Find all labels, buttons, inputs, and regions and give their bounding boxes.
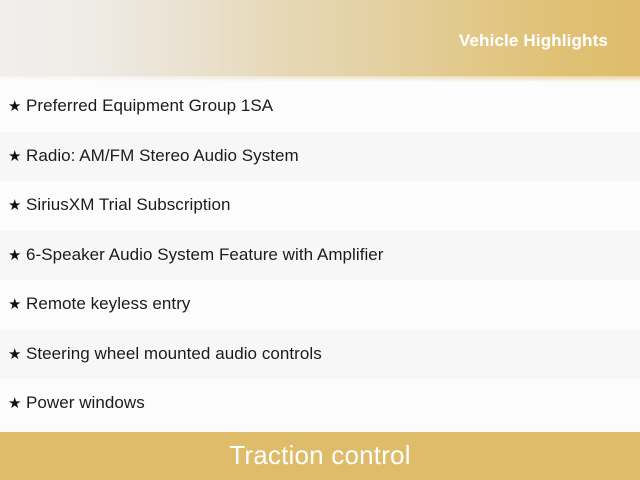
star-icon: ★ [8, 99, 26, 114]
star-icon: ★ [8, 297, 26, 312]
highlight-label: Power windows [26, 394, 145, 413]
star-icon: ★ [8, 198, 26, 213]
highlight-label: 6-Speaker Audio System Feature with Ampl… [26, 246, 384, 265]
header-fade-divider [0, 76, 640, 82]
highlight-label: Steering wheel mounted audio controls [26, 345, 322, 364]
vehicle-highlights-list: ★ Preferred Equipment Group 1SA ★ Radio:… [0, 82, 640, 432]
highlight-label: SiriusXM Trial Subscription [26, 196, 230, 215]
star-icon: ★ [8, 248, 26, 263]
list-item: ★ Preferred Equipment Group 1SA [0, 82, 640, 132]
header-banner: Vehicle Highlights [0, 0, 640, 82]
star-icon: ★ [8, 347, 26, 362]
footer-title: Traction control [229, 442, 410, 470]
star-icon: ★ [8, 149, 26, 164]
footer-banner: Traction control [0, 432, 640, 480]
list-item: ★ Remote keyless entry [0, 280, 640, 330]
list-item: ★ Radio: AM/FM Stereo Audio System [0, 132, 640, 182]
list-item: ★ SiriusXM Trial Subscription [0, 181, 640, 231]
highlight-label: Radio: AM/FM Stereo Audio System [26, 147, 299, 166]
list-item: ★ Power windows [0, 379, 640, 429]
highlight-label: Preferred Equipment Group 1SA [26, 97, 273, 116]
page-title: Vehicle Highlights [459, 32, 608, 51]
vehicle-highlights-slide: Vehicle Highlights ★ Preferred Equipment… [0, 0, 640, 480]
star-icon: ★ [8, 396, 26, 411]
list-item: ★ 6-Speaker Audio System Feature with Am… [0, 231, 640, 281]
list-item: ★ Steering wheel mounted audio controls [0, 330, 640, 380]
highlight-label: Remote keyless entry [26, 295, 190, 314]
